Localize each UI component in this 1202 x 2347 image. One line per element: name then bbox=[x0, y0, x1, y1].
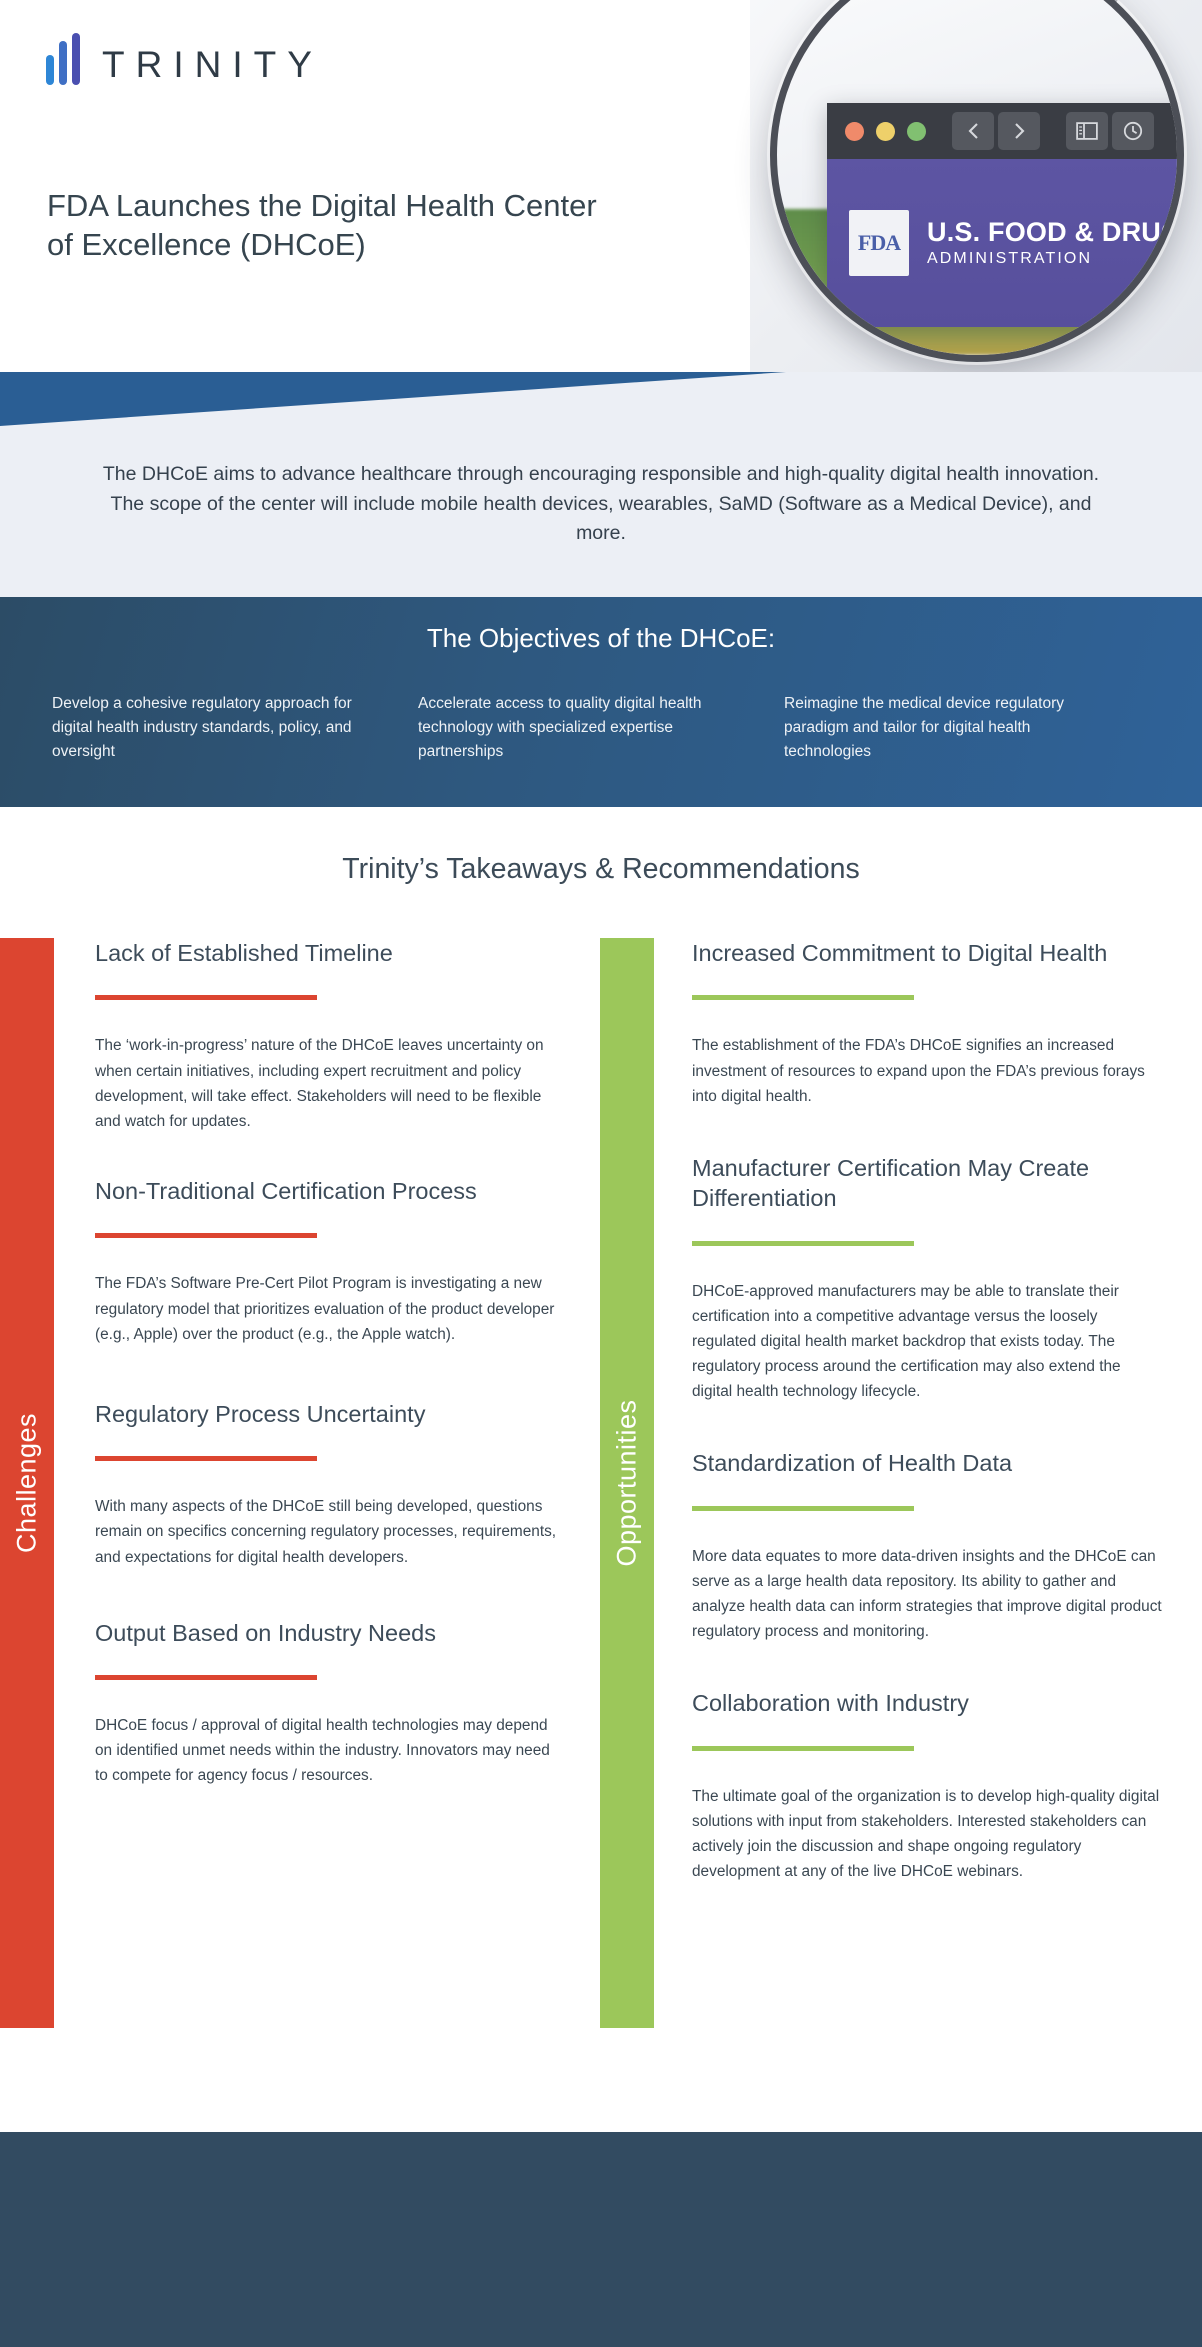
objective-item: Accelerate access to quality digital hea… bbox=[418, 692, 784, 764]
challenge-title: Output Based on Industry Needs bbox=[95, 1618, 565, 1649]
opportunity-title: Standardization of Health Data bbox=[692, 1448, 1162, 1479]
footer-band bbox=[0, 2132, 1202, 2347]
diagonal-divider-shape bbox=[0, 372, 1202, 426]
challenge-item: Lack of Established Timeline The ‘work-i… bbox=[95, 938, 565, 1134]
challenge-body: With many aspects of the DHCoE still bei… bbox=[95, 1494, 565, 1569]
opportunity-item: Manufacturer Certification May Create Di… bbox=[692, 1153, 1162, 1405]
opportunity-body: More data equates to more data-driven in… bbox=[692, 1544, 1162, 1644]
page-title: FDA Launches the Digital Health Center o… bbox=[47, 186, 607, 265]
trinity-bars-logo-icon bbox=[46, 33, 80, 85]
challenge-rule bbox=[95, 1675, 317, 1680]
brand-wordmark: TRINITY bbox=[102, 46, 323, 85]
maximize-dot-icon[interactable] bbox=[907, 122, 926, 141]
opportunity-body: The establishment of the FDA’s DHCoE sig… bbox=[692, 1033, 1162, 1108]
infographic-page: FDA U.S. FOOD & DRUG ADMINISTRATION TRIN… bbox=[0, 0, 1202, 2347]
challenge-item: Regulatory Process Uncertainty With many… bbox=[95, 1399, 565, 1570]
browser-nav-group bbox=[952, 112, 1040, 150]
opportunity-rule bbox=[692, 1506, 914, 1511]
fda-banner: FDA U.S. FOOD & DRUG ADMINISTRATION bbox=[827, 159, 1184, 327]
challenge-title: Lack of Established Timeline bbox=[95, 938, 565, 969]
opportunity-item: Collaboration with Industry The ultimate… bbox=[692, 1688, 1162, 1884]
opportunity-rule bbox=[692, 1241, 914, 1246]
opportunities-label: Opportunities bbox=[612, 1399, 643, 1566]
opportunity-rule bbox=[692, 995, 914, 1000]
challenge-item: Non-Traditional Certification Process Th… bbox=[95, 1176, 565, 1347]
browser-tool-group bbox=[1066, 112, 1154, 150]
objective-text: Reimagine the medical device regulatory … bbox=[784, 692, 1110, 764]
challenge-item: Output Based on Industry Needs DHCoE foc… bbox=[95, 1618, 565, 1789]
minimize-dot-icon[interactable] bbox=[876, 122, 895, 141]
back-arrow-icon[interactable] bbox=[952, 112, 994, 150]
close-dot-icon[interactable] bbox=[845, 122, 864, 141]
opportunity-rule bbox=[692, 1746, 914, 1751]
fda-agency-line2: ADMINISTRATION bbox=[927, 250, 1182, 268]
takeaways-columns: Challenges Opportunities Lack of Establi… bbox=[0, 938, 1202, 2028]
challenges-rail: Challenges bbox=[0, 938, 54, 2028]
sidebar-icon[interactable] bbox=[1066, 112, 1108, 150]
objective-text: Accelerate access to quality digital hea… bbox=[418, 692, 744, 764]
objectives-section: The Objectives of the DHCoE: Develop a c… bbox=[0, 597, 1202, 807]
header: FDA U.S. FOOD & DRUG ADMINISTRATION TRIN… bbox=[0, 0, 1202, 372]
trinity-logo[interactable]: TRINITY bbox=[46, 33, 323, 85]
history-clock-icon[interactable] bbox=[1112, 112, 1154, 150]
challenge-rule bbox=[95, 995, 317, 1000]
challenge-title: Regulatory Process Uncertainty bbox=[95, 1399, 565, 1430]
challenge-body: DHCoE focus / approval of digital health… bbox=[95, 1713, 565, 1788]
opportunity-body: The ultimate goal of the organization is… bbox=[692, 1784, 1162, 1884]
challenges-label: Challenges bbox=[12, 1413, 43, 1553]
objective-item: Reimagine the medical device regulatory … bbox=[784, 692, 1150, 764]
intro-section: The DHCoE aims to advance healthcare thr… bbox=[0, 426, 1202, 597]
intro-paragraph: The DHCoE aims to advance healthcare thr… bbox=[91, 460, 1111, 549]
opportunities-rail: Opportunities bbox=[600, 938, 654, 2028]
objective-item: Develop a cohesive regulatory approach f… bbox=[52, 692, 418, 764]
diagonal-divider bbox=[0, 372, 1202, 426]
opportunity-item: Standardization of Health Data More data… bbox=[692, 1448, 1162, 1644]
fda-logo-icon: FDA bbox=[849, 210, 909, 276]
challenge-title: Non-Traditional Certification Process bbox=[95, 1176, 565, 1207]
fda-agency-line1: U.S. FOOD & DRUG bbox=[927, 218, 1182, 246]
objectives-grid: Develop a cohesive regulatory approach f… bbox=[0, 692, 1202, 764]
opportunity-item: Increased Commitment to Digital Health T… bbox=[692, 938, 1162, 1109]
challenge-rule bbox=[95, 1456, 317, 1461]
fda-agency-name: U.S. FOOD & DRUG ADMINISTRATION bbox=[927, 218, 1182, 267]
opportunities-column: Increased Commitment to Digital Health T… bbox=[692, 938, 1162, 1884]
challenges-column: Lack of Established Timeline The ‘work-i… bbox=[95, 938, 565, 1789]
challenge-body: The ‘work-in-progress’ nature of the DHC… bbox=[95, 1033, 565, 1133]
opportunity-title: Collaboration with Industry bbox=[692, 1688, 1162, 1719]
magnifier-glass-icon: FDA U.S. FOOD & DRUG ADMINISTRATION bbox=[770, 0, 1184, 362]
browser-window-mockup: FDA U.S. FOOD & DRUG ADMINISTRATION bbox=[827, 103, 1184, 327]
opportunity-title: Manufacturer Certification May Create Di… bbox=[692, 1153, 1162, 1214]
opportunity-body: DHCoE-approved manufacturers may be able… bbox=[692, 1279, 1162, 1405]
opportunity-title: Increased Commitment to Digital Health bbox=[692, 938, 1162, 969]
browser-toolbar bbox=[827, 103, 1184, 159]
objective-text: Develop a cohesive regulatory approach f… bbox=[52, 692, 378, 764]
objectives-title: The Objectives of the DHCoE: bbox=[0, 623, 1202, 654]
forward-arrow-icon[interactable] bbox=[998, 112, 1040, 150]
challenge-body: The FDA’s Software Pre-Cert Pilot Progra… bbox=[95, 1271, 565, 1346]
takeaways-title: Trinity’s Takeaways & Recommendations bbox=[0, 853, 1202, 886]
challenge-rule bbox=[95, 1233, 317, 1238]
